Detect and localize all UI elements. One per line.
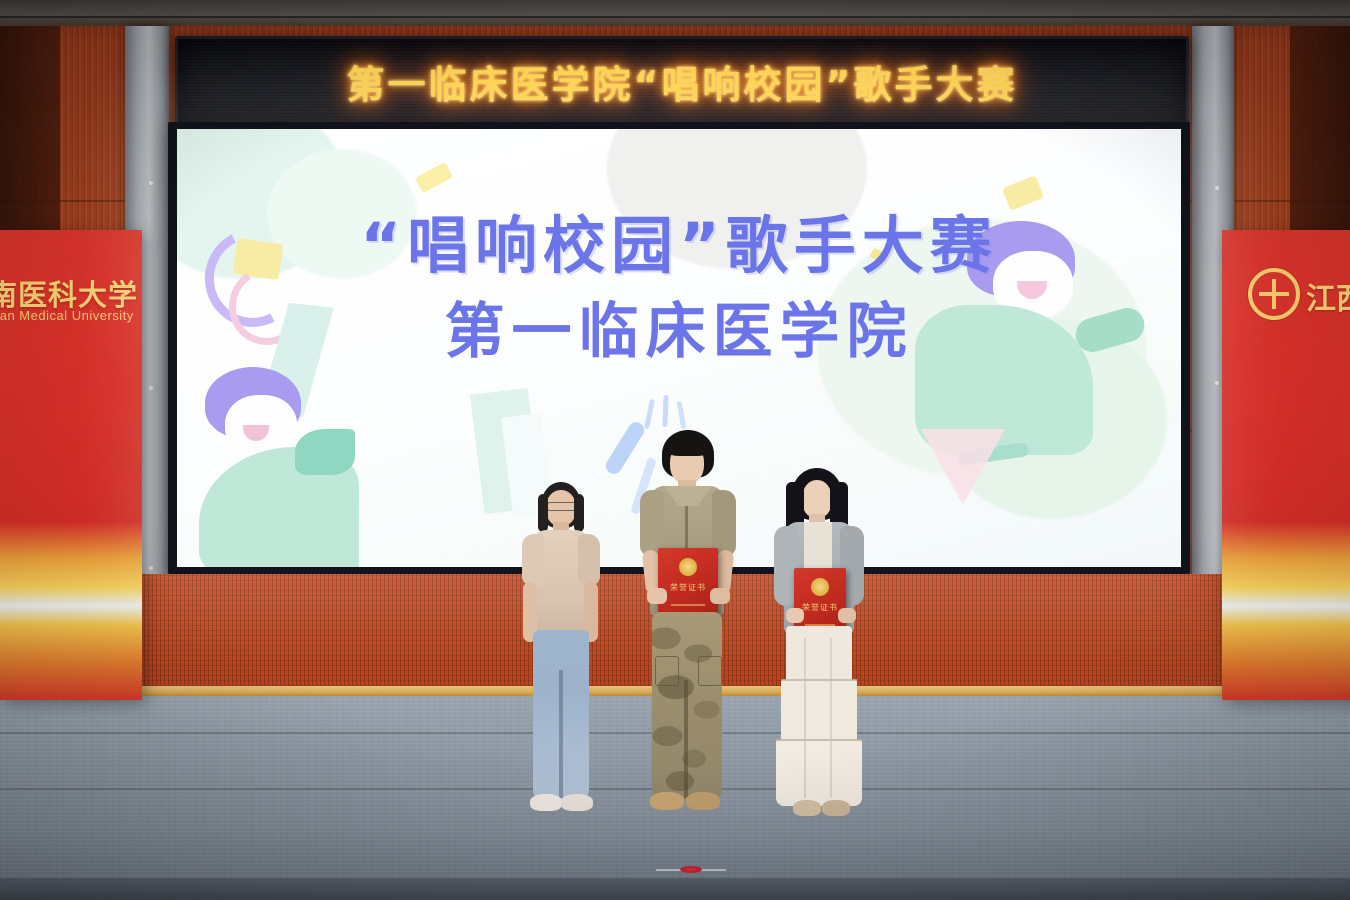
banner-left-en-text: nan Medical University	[0, 308, 134, 323]
person-left-sleeve	[522, 534, 544, 586]
person-right-head	[802, 480, 832, 518]
person-right-dress-tier-1	[786, 626, 852, 682]
banner-right: 江西	[1222, 230, 1350, 700]
ceiling	[0, 0, 1350, 26]
person-center-pants-gap	[684, 680, 688, 798]
person-left-shoe	[561, 794, 593, 811]
banner-right-cn-text: 江西	[1306, 274, 1350, 318]
decor-triangle-pink	[921, 429, 1005, 505]
microphone-sparkle-icon	[677, 401, 687, 429]
microphone-sparkle-icon	[662, 395, 668, 427]
person-center-shoe	[686, 792, 720, 810]
certificate-emblem-icon	[679, 558, 697, 576]
person-center-cargo-pocket	[698, 656, 722, 686]
person-center-sleeve	[712, 490, 736, 556]
certificate-emblem-icon	[811, 578, 829, 596]
person-right-dress-fold	[830, 638, 832, 798]
decor-confetti-yellow	[415, 162, 453, 193]
person-right-dress-fold	[804, 638, 806, 798]
decor-confetti-yellow	[1002, 175, 1044, 211]
screen-subtitle: 第一临床医学院	[177, 299, 1181, 365]
university-logo-icon	[1248, 268, 1300, 320]
stage-front-edge	[0, 878, 1350, 900]
person-center-shoe	[650, 792, 684, 810]
ceremony-photo: 第一临床医学院“唱响校园”歌手大赛	[0, 0, 1350, 900]
person-right-dress-seam	[781, 679, 857, 681]
led-banner-text: 第一临床医学院“唱响校园”歌手大赛	[347, 54, 1018, 109]
person-right-hand	[838, 608, 856, 623]
person-center-cargo-pocket	[655, 656, 679, 686]
person-center-sleeve	[640, 490, 664, 556]
ceiling-trim-line	[0, 16, 1350, 18]
person-left	[505, 482, 615, 822]
person-left-jeans-gap	[559, 670, 563, 798]
person-left-glasses-icon	[547, 502, 577, 511]
person-center: 荣誉证书	[628, 430, 748, 820]
person-right: 荣誉证书	[760, 468, 878, 820]
person-right-shoe	[793, 800, 821, 816]
led-banner: 第一临床医学院“唱响校园”歌手大赛	[175, 36, 1189, 126]
person-left-sleeve	[578, 534, 600, 586]
certificate-text: 荣誉证书	[658, 582, 718, 593]
person-center-fringe	[666, 438, 710, 456]
screen-title: “唱响校园”歌手大赛	[177, 211, 1181, 280]
microphone-sparkle-icon	[644, 399, 655, 429]
person-right-dress-tier-3	[776, 740, 862, 806]
person-center-hand	[710, 588, 730, 604]
person-center-hand	[647, 588, 667, 604]
person-left-hair-side	[574, 494, 584, 532]
person-right-dress-seam	[776, 739, 862, 741]
certificate-rule	[671, 604, 705, 606]
banner-left: 南医科大学 nan Medical University	[0, 230, 142, 700]
person-left-shoe	[530, 794, 562, 811]
person-right-hand	[786, 608, 804, 623]
person-right-shoe	[822, 800, 850, 816]
floor-position-marker	[680, 866, 702, 873]
cartoon-figure-left-accent	[295, 429, 355, 475]
person-right-dress-tier-2	[781, 680, 857, 742]
person-left-hair-side	[538, 494, 548, 532]
